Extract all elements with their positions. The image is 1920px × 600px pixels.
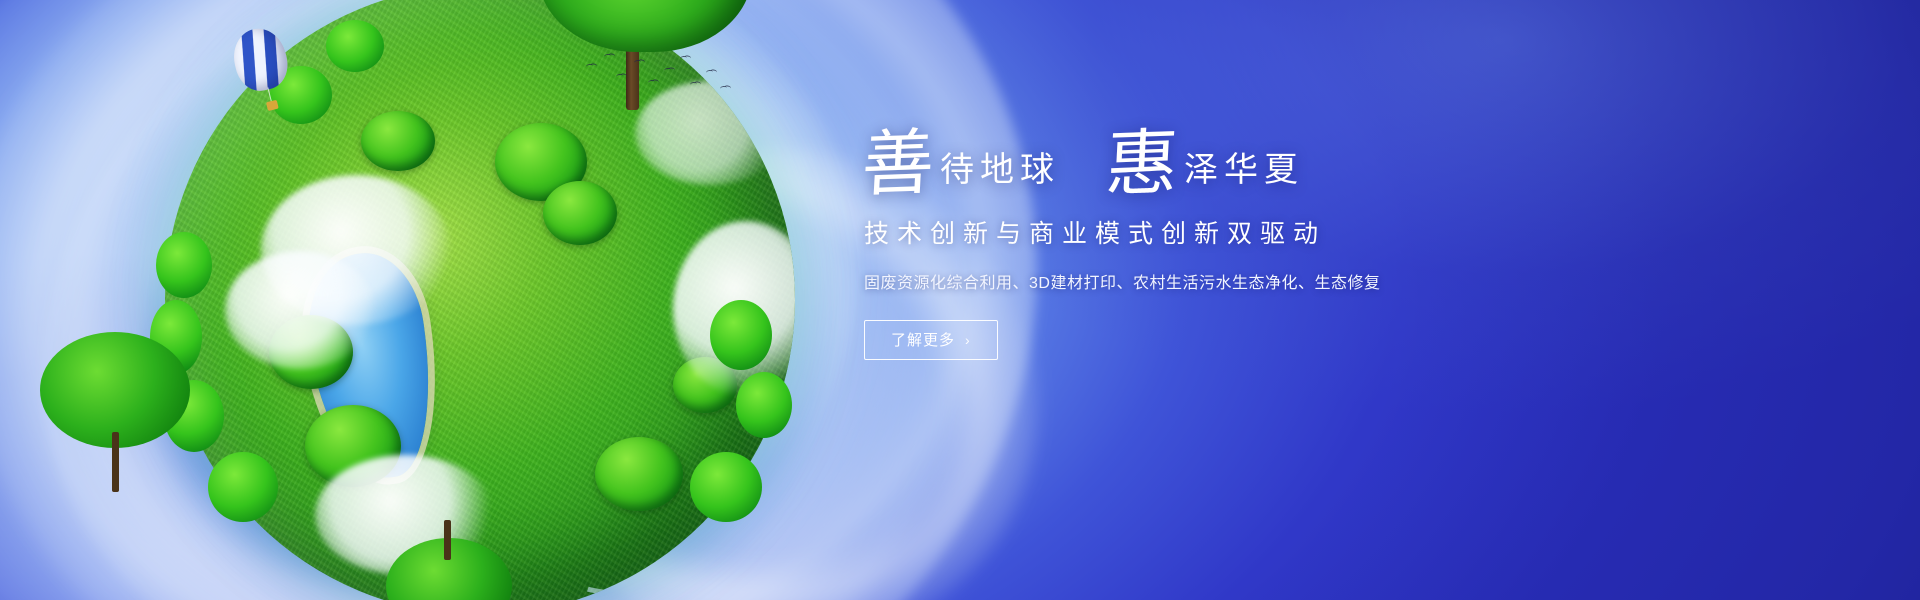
rim-shrub-icon [326, 20, 384, 72]
rim-shrub-icon [208, 452, 278, 522]
bird-flock-icon [586, 52, 716, 98]
headline-phrase-2: 惠 泽华夏 [1106, 130, 1304, 196]
cloud-puff-icon [225, 251, 375, 369]
rim-shrub-icon [156, 232, 212, 298]
chevron-right-icon: › [965, 333, 971, 347]
rim-shrub-icon [690, 452, 762, 522]
subtitle: 技术创新与商业模式创新双驱动 [864, 218, 1502, 252]
shrub-icon [543, 181, 617, 245]
rim-shrub-icon [736, 372, 792, 438]
rim-shrub-icon [710, 300, 772, 370]
tree-icon [376, 520, 526, 600]
headline-phrase-1: 善 待地球 [862, 130, 1060, 196]
headline-rest-2: 泽华夏 [1184, 153, 1304, 196]
headline: 善 待地球 惠 泽华夏 [862, 130, 1502, 196]
headline-char-shan: 善 [860, 129, 942, 198]
learn-more-label: 了解更多 [891, 329, 955, 350]
tree-icon [40, 332, 200, 502]
shrub-icon [361, 111, 435, 171]
headline-char-hui: 惠 [1104, 129, 1186, 198]
shrub-icon [595, 437, 683, 511]
hero-content: 善 待地球 惠 泽华夏 技术创新与商业模式创新双驱动 固废资源化综合利用、3D建… [862, 130, 1502, 360]
hero-banner: 善 待地球 惠 泽华夏 技术创新与商业模式创新双驱动 固废资源化综合利用、3D建… [0, 0, 1920, 600]
description: 固废资源化综合利用、3D建材打印、农村生活污水生态净化、生态修复 [864, 272, 1502, 296]
headline-rest-1: 待地球 [940, 153, 1060, 196]
learn-more-button[interactable]: 了解更多 › [864, 320, 998, 360]
